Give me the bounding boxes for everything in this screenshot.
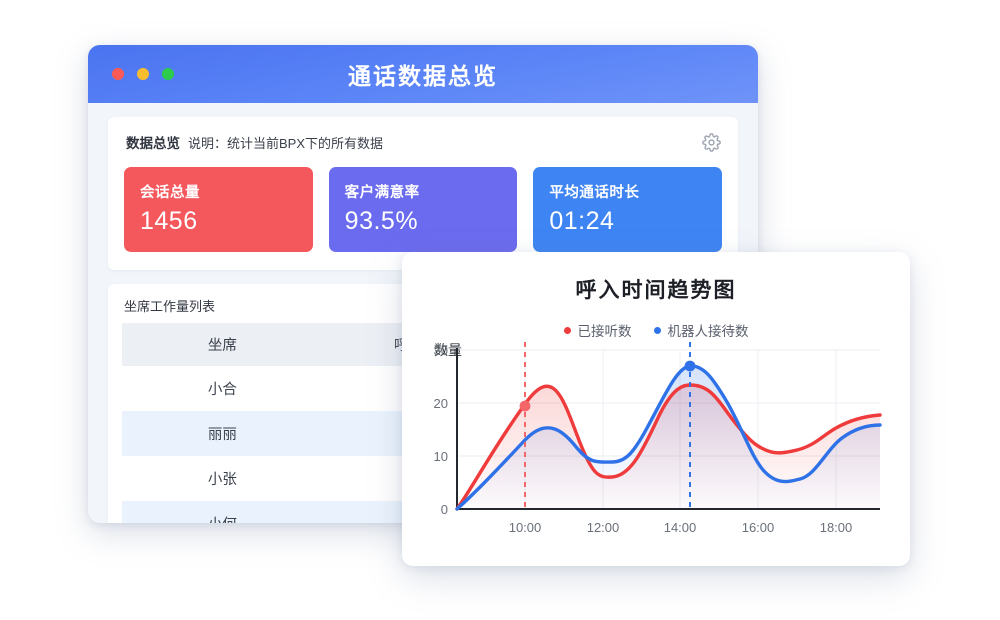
stat-card-value: 01:24: [549, 207, 706, 236]
cell-agent: 小何: [122, 501, 323, 523]
stat-card-satisfaction[interactable]: 客户满意率 93.5%: [329, 167, 518, 252]
stat-card-label: 客户满意率: [345, 181, 502, 202]
overview-title: 数据总览: [126, 132, 180, 152]
cell-agent: 小合: [122, 366, 323, 411]
screenshot-root: 通话数据总览 数据总览 说明：统计当前BPX下的所有数据: [0, 0, 1000, 620]
stat-card-avg-duration[interactable]: 平均通话时长 01:24: [533, 167, 722, 252]
x-tick-4: 18:00: [820, 520, 853, 535]
stat-card-sessions[interactable]: 会话总量 1456: [124, 167, 313, 252]
chart-plot-area: 30 20 10 0: [402, 340, 910, 566]
chart-svg: 30 20 10 0: [402, 340, 910, 566]
y-axis-ticks: 30 20 10 0: [434, 343, 448, 517]
x-tick-0: 10:00: [509, 520, 542, 535]
close-button[interactable]: [112, 68, 124, 80]
maximize-button[interactable]: [162, 68, 174, 80]
overview-header: 数据总览 说明：统计当前BPX下的所有数据: [124, 131, 722, 153]
window-title: 通话数据总览: [88, 57, 758, 91]
y-tick-20: 20: [434, 396, 448, 411]
column-header-agent[interactable]: 坐席: [122, 323, 323, 366]
stat-card-label: 会话总量: [140, 181, 297, 202]
y-tick-30: 30: [434, 343, 448, 358]
cell-agent: 小张: [122, 456, 323, 501]
legend-label: 机器人接待数: [668, 320, 749, 340]
overview-description: 说明：统计当前BPX下的所有数据: [188, 133, 383, 152]
stat-card-value: 93.5%: [345, 207, 502, 236]
marker-red[interactable]: [520, 401, 531, 412]
overview-panel: 数据总览 说明：统计当前BPX下的所有数据 会话总量 1456: [108, 117, 738, 270]
legend-label: 已接听数: [578, 320, 632, 340]
stat-card-label: 平均通话时长: [549, 181, 706, 202]
y-tick-0: 0: [441, 502, 448, 517]
trend-chart-panel: 呼入时间趋势图 已接听数 机器人接待数 数量: [402, 252, 910, 566]
traffic-lights: [112, 68, 174, 80]
chart-title: 呼入时间趋势图: [402, 252, 910, 304]
x-tick-1: 12:00: [587, 520, 620, 535]
gear-icon[interactable]: [700, 131, 722, 153]
y-tick-10: 10: [434, 449, 448, 464]
legend-dot-icon: [564, 327, 571, 334]
marker-blue[interactable]: [685, 361, 696, 372]
x-tick-3: 16:00: [742, 520, 775, 535]
chart-legend: 已接听数 机器人接待数: [402, 320, 910, 340]
x-tick-2: 14:00: [664, 520, 697, 535]
x-axis-ticks: 10:00 12:00 14:00 16:00 18:00: [509, 520, 853, 535]
title-bar: 通话数据总览: [88, 45, 758, 103]
legend-dot-icon: [654, 327, 661, 334]
legend-item-bot[interactable]: 机器人接待数: [654, 320, 749, 340]
cell-agent: 丽丽: [122, 411, 323, 456]
stat-cards: 会话总量 1456 客户满意率 93.5% 平均通话时长 01:24: [124, 167, 722, 252]
minimize-button[interactable]: [137, 68, 149, 80]
stat-card-value: 1456: [140, 207, 297, 236]
legend-item-answered[interactable]: 已接听数: [564, 320, 632, 340]
